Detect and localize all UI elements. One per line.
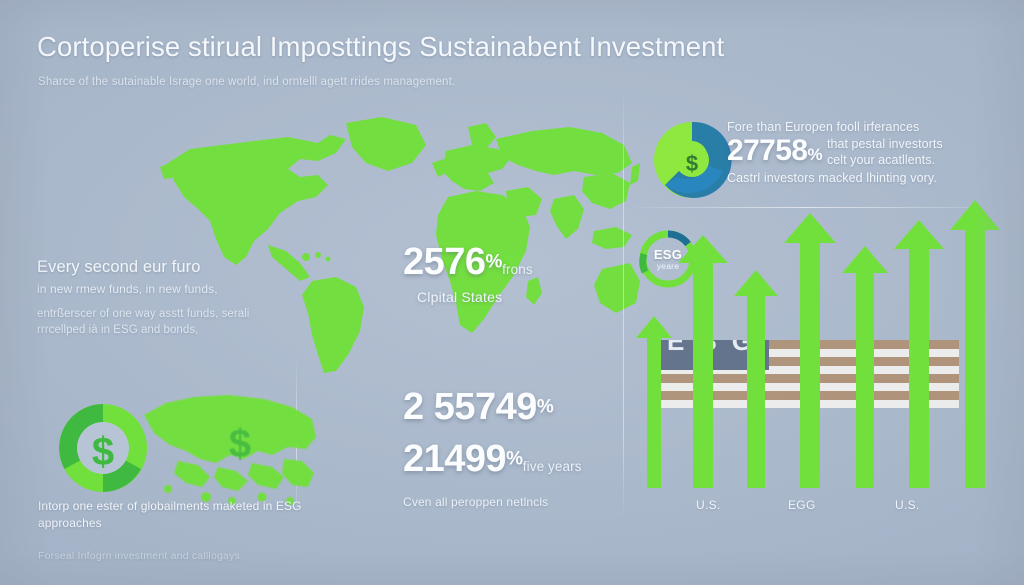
center-stat-two: 2 55749%: [403, 388, 582, 426]
right-panel-text: Fore than Europen fooll irferances 27758…: [727, 120, 989, 185]
divider-vertical-center: [623, 90, 624, 520]
right-panel-side-text: that pestal investorts celt your acatlle…: [827, 136, 943, 168]
right-panel-stat-row: 27758% that pestal investorts celt your …: [727, 136, 989, 168]
bar-arrow-2: [678, 235, 728, 488]
page-subtitle: Sharce of the sutainable Israge one worl…: [38, 76, 455, 88]
bar-arrow-6: [894, 220, 944, 488]
right-panel-big-percent: %: [807, 145, 822, 164]
right-panel-line1: Fore than Europen fooll irferances: [727, 120, 989, 134]
bar-arrow-4: [784, 213, 836, 488]
svg-text:$: $: [92, 430, 114, 474]
right-panel-side-line2: celt your acatllents.: [827, 152, 943, 168]
right-panel-big-value-wrap: 27758%: [727, 136, 822, 166]
center-stat-three-value: 21499: [403, 440, 506, 478]
center-stat-two-value: 2 55749: [403, 388, 537, 426]
center-main-caption: Clpital States: [417, 289, 533, 305]
bar-arrow-7: [950, 200, 1000, 488]
right-panel-line3: Castrl investors macked lhinting vory.: [727, 171, 989, 185]
bar-arrow-3: [734, 270, 778, 488]
center-stat-two-percent: %: [537, 397, 554, 418]
center-main-value: 2576: [403, 243, 486, 281]
right-panel-big-value: 27758: [727, 134, 807, 167]
dollar-swirl-icon: $: [651, 119, 733, 201]
x-label-0: U.S.: [696, 498, 721, 512]
svg-text:$: $: [686, 151, 698, 176]
divider-horizontal-right: [635, 207, 976, 208]
dollar-donut-chart: $: [52, 397, 154, 499]
x-label-2: U.S.: [895, 498, 920, 512]
bar-arrow-5: [842, 246, 888, 488]
growth-arrow-bar-chart: [628, 218, 1000, 488]
svg-text:$: $: [229, 422, 251, 466]
left-stat-line2: in new rmew funds, in new funds,: [37, 282, 285, 296]
infographic-canvas: Cortoperise stirual Imposttings Sustaina…: [0, 0, 1024, 585]
page-title: Cortoperise stirual Imposttings Sustaina…: [37, 31, 724, 63]
footer-note: Forseal Infogrn investment and calllogay…: [38, 550, 243, 562]
left-stat-block: Every second eur furo in new rmew funds,…: [37, 258, 285, 339]
left-stat-lead: Every second eur furo: [37, 258, 285, 277]
chart-x-axis-labels: U.S. EGG U.S.: [628, 498, 1000, 520]
center-stat-three-suffix: five years: [523, 459, 582, 474]
right-panel-side-line1: that pestal investorts: [827, 136, 943, 152]
center-main-percent: %: [486, 252, 503, 273]
center-main-stat: 2576%frons Clpital States: [403, 243, 533, 305]
europe-map-graphic: $: [140, 385, 320, 515]
bar-arrow-1: [636, 316, 672, 488]
bottom-left-caption: Intorp one ester of globailments maketed…: [38, 498, 303, 533]
center-caption: Cven all peroppen netlncls: [403, 495, 548, 509]
center-stat-three-percent: %: [506, 449, 523, 470]
left-stat-line3: entrßerscer of one way asstt funds, sera…: [37, 306, 285, 339]
center-main-suffix: frons: [502, 262, 533, 277]
center-secondary-stats: 2 55749% 21499%five years: [403, 388, 582, 478]
x-label-1: EGG: [788, 498, 816, 512]
center-stat-three: 21499%five years: [403, 440, 582, 478]
